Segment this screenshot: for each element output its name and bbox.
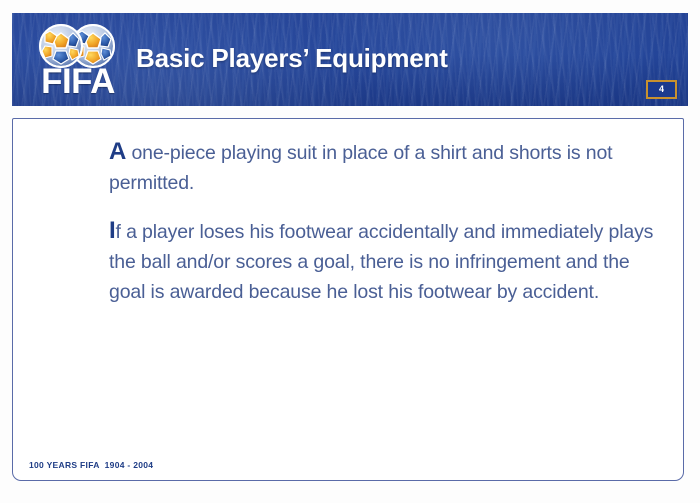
body-text-container: A one-piece playing suit in place of a s… — [109, 137, 665, 307]
fifa-wordmark: FIFA — [26, 64, 130, 99]
footer-text: 100 YEARS FIFA 1904 - 2004 — [29, 460, 153, 470]
page-title: Basic Players’ Equipment — [136, 43, 448, 74]
page-number-badge: 4 — [646, 80, 677, 99]
paragraph-1-text: one-piece playing suit in place of a shi… — [109, 142, 612, 194]
paragraph-2-text: f a player loses his footwear accidental… — [109, 221, 653, 303]
paragraph-2: If a player loses his footwear accidenta… — [109, 216, 665, 307]
paragraph-1-dropcap: A — [109, 138, 126, 165]
fifa-logo: FIFA — [22, 21, 132, 101]
paragraph-1: A one-piece playing suit in place of a s… — [109, 137, 665, 198]
header-banner: FIFA Basic Players’ Equipment 4 — [12, 13, 688, 106]
content-box: A one-piece playing suit in place of a s… — [12, 118, 684, 481]
slide-root: FIFA Basic Players’ Equipment 4 A one-pi… — [0, 0, 700, 503]
soccer-ball-left — [40, 25, 82, 67]
